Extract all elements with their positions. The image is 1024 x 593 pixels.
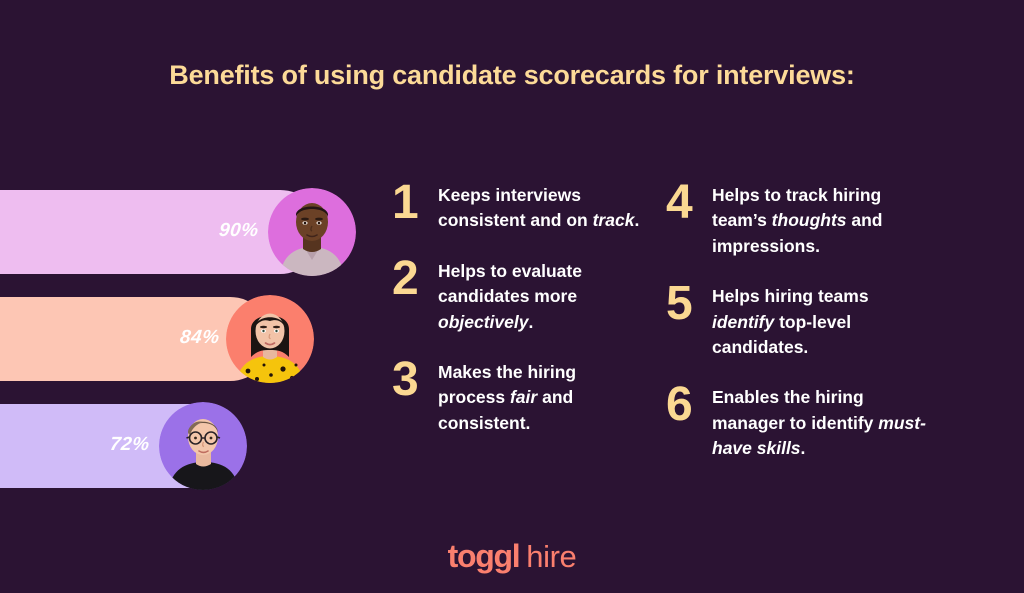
benefit-emphasis: objectively <box>438 312 528 332</box>
infographic-canvas: Benefits of using candidate scorecards f… <box>0 0 1024 593</box>
logo-toggl-word: toggl <box>448 538 520 574</box>
benefit-item-3: 3Makes the hiring process fair and consi… <box>392 357 642 436</box>
benefit-emphasis: track <box>593 210 635 230</box>
benefit-item-2: 2Helps to evaluate candidates more objec… <box>392 256 642 335</box>
benefits-column-left: 1Keeps interviews consistent and on trac… <box>392 180 642 458</box>
benefit-plain: Enables the hiring manager to identify <box>712 387 878 432</box>
bar-value-label-1: 90% <box>218 220 260 242</box>
benefit-item-5: 5Helps hiring teams identify top-level c… <box>666 281 934 360</box>
page-title: Benefits of using candidate scorecards f… <box>0 60 1024 91</box>
benefit-number-2: 2 <box>392 256 438 302</box>
benefit-text-1: Keeps interviews consistent and on track… <box>438 180 642 234</box>
benefit-emphasis: thoughts <box>772 210 847 230</box>
benefits-column-right: 4Helps to track hiring team’s thoughts a… <box>666 180 934 483</box>
bar-chart: 90% <box>0 190 380 495</box>
benefit-plain: . <box>634 210 639 230</box>
benefit-item-1: 1Keeps interviews consistent and on trac… <box>392 180 642 234</box>
benefit-text-2: Helps to evaluate candidates more object… <box>438 256 642 335</box>
benefit-plain: . <box>801 438 806 458</box>
brand-logo: togglhire <box>0 538 1024 575</box>
avatar-person-2 <box>226 295 314 383</box>
benefit-emphasis: identify <box>712 312 774 332</box>
benefit-plain: Helps hiring teams <box>712 286 869 306</box>
avatar-person-1 <box>268 188 356 276</box>
benefit-number-3: 3 <box>392 357 438 403</box>
benefit-number-1: 1 <box>392 180 438 226</box>
benefit-text-6: Enables the hiring manager to identify m… <box>712 382 934 461</box>
benefit-number-5: 5 <box>666 281 712 327</box>
benefit-plain: . <box>528 312 533 332</box>
benefit-item-4: 4Helps to track hiring team’s thoughts a… <box>666 180 934 259</box>
benefit-emphasis: fair <box>510 387 537 407</box>
benefit-text-5: Helps hiring teams identify top-level ca… <box>712 281 934 360</box>
benefit-text-4: Helps to track hiring team’s thoughts an… <box>712 180 934 259</box>
benefit-number-4: 4 <box>666 180 712 226</box>
bar-value-label-2: 84% <box>179 327 221 349</box>
benefit-text-3: Makes the hiring process fair and consis… <box>438 357 642 436</box>
benefit-plain: Helps to evaluate candidates more <box>438 261 582 306</box>
bar-value-label-3: 72% <box>109 434 151 456</box>
benefit-number-6: 6 <box>666 382 712 428</box>
benefit-item-6: 6Enables the hiring manager to identify … <box>666 382 934 461</box>
logo-hire-word: hire <box>526 539 576 574</box>
benefit-plain: Keeps interviews consistent and on <box>438 185 593 230</box>
avatar-person-3 <box>159 402 247 490</box>
